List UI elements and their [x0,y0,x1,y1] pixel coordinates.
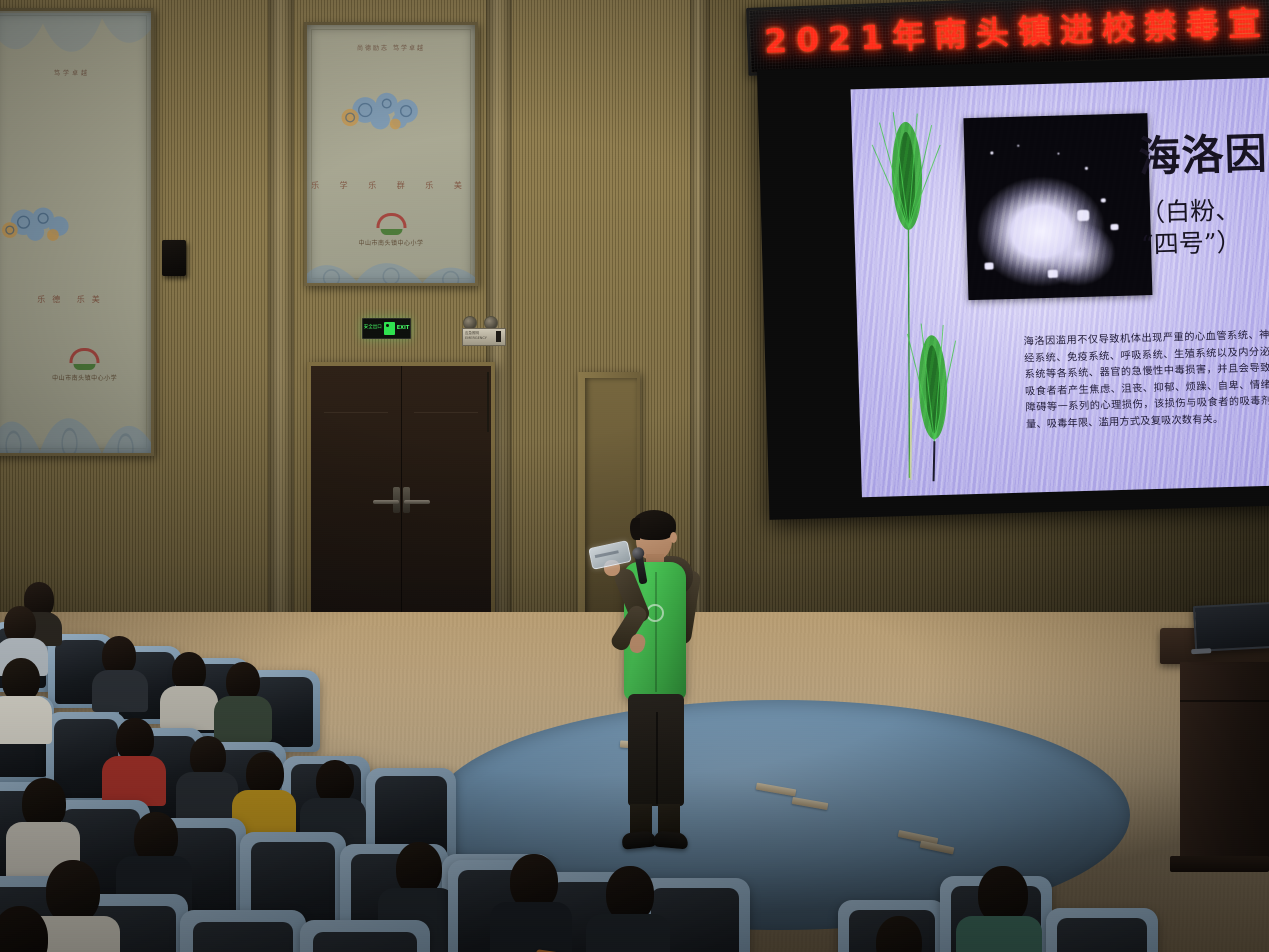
audience-person [0,658,52,738]
audience-person [92,636,148,708]
slide-subtitle-line2: “四号”） [1141,225,1269,261]
drug-photo [963,113,1152,300]
auditorium-scene: 笃学卓越 乐德 乐美 中山市南头镇中心小学 [0,0,1269,952]
slide-subtitle: （白粉、 “四号”） [1140,193,1269,261]
seat[interactable] [300,920,430,952]
audience-person [176,736,238,818]
slide-body-text: 海洛因滥用不仅导致机体出现严重的心血管系统、神经系统、免疫系统、呼吸系统、生殖系… [1023,328,1269,434]
wheat-stalk-decoration [859,97,962,493]
white-powder-image [975,139,1130,289]
slide-subtitle-line1: （白粉、 [1140,193,1269,229]
presenter-ear [670,532,677,543]
seat[interactable] [180,910,306,952]
projection-screen: 海洛因 （白粉、 “四号”） 海洛因滥用不仅导致机体出现严重的心血管系统、神经系… [851,78,1269,498]
audience-person [858,916,938,952]
audience-person [490,854,572,952]
led-banner-text: 2021年南头镇进校禁毒宣 [764,6,1269,58]
audience-person [160,652,218,726]
audience-person [214,662,272,738]
audience-person [586,866,670,952]
audience-person [956,866,1042,952]
slide-title: 海洛因 [1138,131,1269,179]
audience-person [0,906,70,952]
audience-seating [0,560,1269,952]
seat[interactable] [1046,908,1158,952]
audience-person [102,718,166,800]
projection-screen-frame: 海洛因 （白粉、 “四号”） 海洛因滥用不仅导致机体出现严重的心血管系统、神经系… [757,55,1269,519]
